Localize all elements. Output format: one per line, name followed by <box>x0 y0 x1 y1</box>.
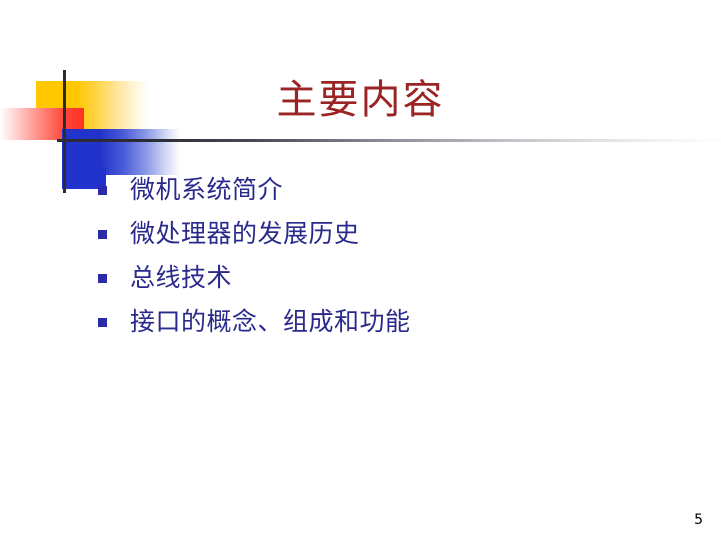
square-bullet-icon <box>98 230 107 239</box>
square-bullet-icon <box>98 274 107 283</box>
list-item: 总线技术 <box>98 256 678 300</box>
slide-title: 主要内容 <box>0 76 721 124</box>
presentation-slide: 主要内容 微机系统简介 微处理器的发展历史 总线技术 接口的概念、组成和功能 5 <box>0 0 721 540</box>
page-number: 5 <box>694 512 703 528</box>
list-item: 微机系统简介 <box>98 168 678 212</box>
bullet-list: 微机系统简介 微处理器的发展历史 总线技术 接口的概念、组成和功能 <box>98 168 678 344</box>
square-bullet-icon <box>98 318 107 327</box>
square-bullet-icon <box>98 186 107 195</box>
list-item-label: 接口的概念、组成和功能 <box>130 307 411 337</box>
list-item: 接口的概念、组成和功能 <box>98 300 678 344</box>
list-item-label: 微机系统简介 <box>130 175 283 205</box>
title-divider-rule <box>57 139 721 142</box>
list-item-label: 总线技术 <box>130 263 232 293</box>
list-item-label: 微处理器的发展历史 <box>130 219 360 249</box>
list-item: 微处理器的发展历史 <box>98 212 678 256</box>
